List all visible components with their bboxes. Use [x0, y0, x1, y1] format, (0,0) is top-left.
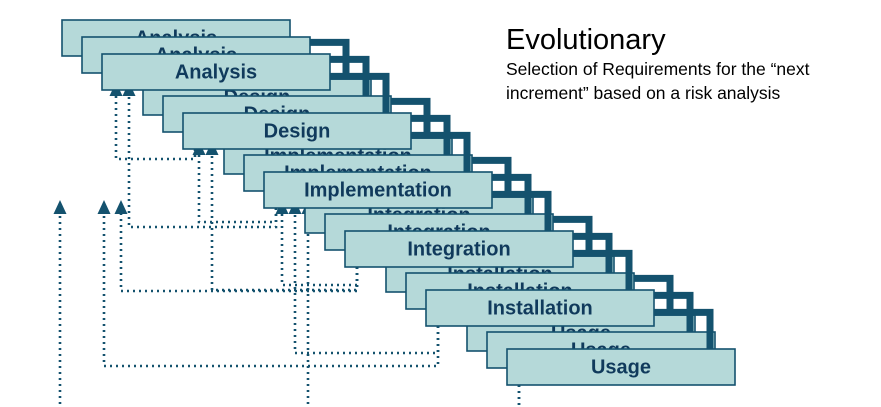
stage-box-usage-increment-3[interactable]: Usage: [507, 349, 735, 385]
stage-box-implementation-increment-3[interactable]: Implementation: [264, 172, 492, 208]
stage-box-design-increment-3[interactable]: Design: [183, 113, 411, 149]
feedback-long-arrowhead-usage: [54, 200, 67, 214]
feedback-long-arrowhead-integration: [115, 200, 128, 214]
caption-body: Selection of Requirements for the “next …: [506, 57, 876, 105]
stage-box-label-analysis: Analysis: [175, 61, 257, 83]
stage-box-installation-increment-3[interactable]: Installation: [426, 290, 654, 326]
caption-block: Evolutionary Selection of Requirements f…: [506, 24, 876, 105]
stage-box-integration-increment-3[interactable]: Integration: [345, 231, 573, 267]
evolutionary-waterfall-diagram: AnalysisDesignImplementationIntegrationI…: [0, 0, 881, 407]
caption-title: Evolutionary: [506, 24, 876, 57]
stage-box-analysis-increment-3[interactable]: Analysis: [102, 54, 330, 90]
feedback-long-arrowhead-installation: [98, 200, 111, 214]
stage-box-label-implementation: Implementation: [304, 179, 452, 201]
stage-box-label-installation: Installation: [487, 297, 593, 319]
stage-box-label-usage: Usage: [591, 356, 651, 378]
stage-box-label-design: Design: [264, 120, 331, 142]
stage-box-label-integration: Integration: [407, 238, 510, 260]
